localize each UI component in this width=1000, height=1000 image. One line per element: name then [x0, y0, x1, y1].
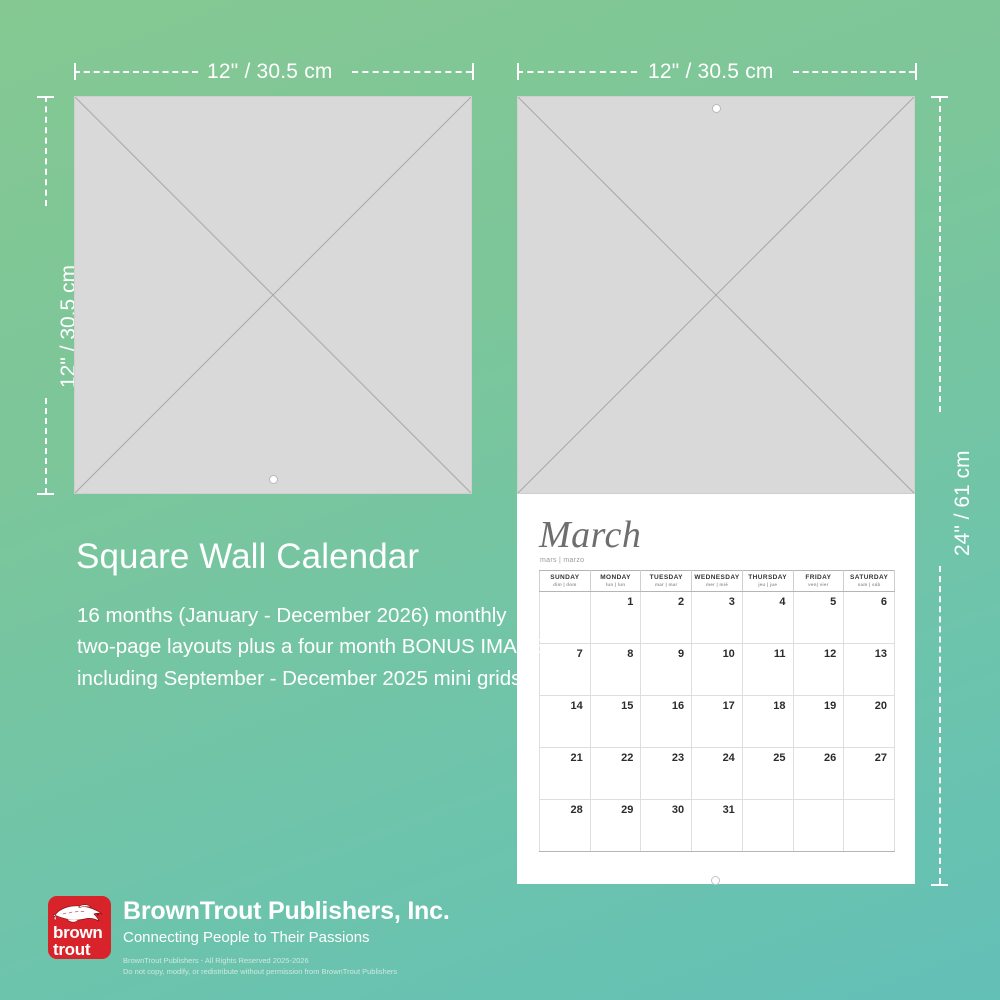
calendar-day-cell: 13 — [844, 644, 895, 696]
weekday-sub: mar | mar — [641, 582, 691, 588]
placeholder-cross-icon — [75, 97, 471, 493]
legal-notice: BrownTrout Publishers - All Rights Reser… — [123, 955, 450, 978]
calendar-header-saturday: SATURDAY sam | sáb — [844, 571, 895, 592]
dimension-tick-right — [915, 63, 917, 80]
calendar-day-cell: 3 — [692, 592, 743, 644]
legal-line-1: BrownTrout Publishers - All Rights Reser… — [123, 955, 450, 966]
logo-word-trout: trout — [53, 941, 90, 958]
dimension-dash-lower — [939, 566, 941, 884]
weekday-name: FRIDAY — [794, 574, 844, 582]
logo-word-brown: brown — [53, 924, 103, 941]
calendar-day-cell — [844, 800, 895, 852]
calendar-week-row: 7 8 9 10 11 12 13 — [540, 644, 895, 696]
calendar-week-row: 21 22 23 24 25 26 27 — [540, 748, 895, 800]
weekday-sub: jeu | jue — [743, 582, 793, 588]
calendar-day-cell: 24 — [692, 748, 743, 800]
calendar-table: SUNDAY dim | dom MONDAY lun | lun TUESDA… — [539, 570, 895, 852]
calendar-header-tuesday: TUESDAY mar | mar — [641, 571, 692, 592]
calendar-day-cell: 17 — [692, 696, 743, 748]
calendar-header-friday: FRIDAY ven| vier — [793, 571, 844, 592]
calendar-day-cell: 30 — [641, 800, 692, 852]
calendar-day-cell: 2 — [641, 592, 692, 644]
calendar-day-cell: 27 — [844, 748, 895, 800]
calendar-header-row: SUNDAY dim | dom MONDAY lun | lun TUESDA… — [540, 571, 895, 592]
weekday-sub: lun | lun — [591, 582, 641, 588]
weekday-name: SATURDAY — [844, 574, 894, 582]
calendar-day-cell: 7 — [540, 644, 591, 696]
calendar-day-cell: 1 — [590, 592, 641, 644]
weekday-sub: sam | sáb — [844, 582, 894, 588]
calendar-day-cell: 19 — [793, 696, 844, 748]
dimension-dash-left — [74, 71, 198, 73]
calendar-day-cell: 5 — [793, 592, 844, 644]
calendar-month-subtitle: mars | marzo — [540, 557, 584, 564]
calendar-day-cell: 26 — [793, 748, 844, 800]
dimension-dash-lower — [45, 398, 47, 494]
left-cover-panel — [74, 96, 472, 494]
dimension-dash-upper — [939, 96, 941, 412]
hang-hole — [712, 104, 721, 113]
dimension-tick-bottom — [37, 493, 54, 495]
placeholder-cross-icon — [518, 97, 914, 493]
right-panel-height-label: 24" / 61 cm — [951, 450, 975, 556]
dimension-tick-right — [472, 63, 474, 80]
weekday-name: WEDNESDAY — [692, 574, 742, 582]
trout-fish-icon — [53, 903, 106, 925]
calendar-day-cell: 31 — [692, 800, 743, 852]
calendar-day-cell: 16 — [641, 696, 692, 748]
calendar-day-cell: 28 — [540, 800, 591, 852]
dimension-tick-bottom — [931, 884, 948, 886]
right-panel-width-label: 12" / 30.5 cm — [648, 60, 774, 84]
calendar-header-wednesday: WEDNESDAY mer | mié — [692, 571, 743, 592]
calendar-day-cell: 10 — [692, 644, 743, 696]
calendar-week-row: 1 2 3 4 5 6 — [540, 592, 895, 644]
calendar-header-sunday: SUNDAY dim | dom — [540, 571, 591, 592]
dimension-dash-right — [352, 71, 472, 73]
calendar-day-cell: 18 — [742, 696, 793, 748]
calendar-day-cell: 4 — [742, 592, 793, 644]
calendar-day-cell: 21 — [540, 748, 591, 800]
calendar-header-thursday: THURSDAY jeu | jue — [742, 571, 793, 592]
calendar-day-cell: 12 — [793, 644, 844, 696]
browntrout-logo: brown trout — [48, 896, 111, 959]
weekday-sub: ven| vier — [794, 582, 844, 588]
weekday-sub: mer | mié — [692, 582, 742, 588]
calendar-day-cell: 11 — [742, 644, 793, 696]
calendar-day-cell — [793, 800, 844, 852]
calendar-day-cell: 23 — [641, 748, 692, 800]
calendar-day-cell: 9 — [641, 644, 692, 696]
calendar-day-cell — [742, 800, 793, 852]
calendar-day-cell: 15 — [590, 696, 641, 748]
weekday-name: TUESDAY — [641, 574, 691, 582]
calendar-header-monday: MONDAY lun | lun — [590, 571, 641, 592]
calendar-month-title: March — [539, 513, 641, 557]
hang-hole — [269, 475, 278, 484]
weekday-name: SUNDAY — [540, 574, 590, 582]
dimension-dash-right — [793, 71, 915, 73]
dimension-dash-left — [517, 71, 637, 73]
calendar-day-cell — [540, 592, 591, 644]
weekday-sub: dim | dom — [540, 582, 590, 588]
legal-line-2: Do not copy, modify, or redistribute wit… — [123, 966, 450, 977]
calendar-day-cell: 20 — [844, 696, 895, 748]
calendar-grid-page: March mars | marzo SUNDAY dim | dom MOND… — [517, 494, 915, 884]
publisher-tagline: Connecting People to Their Passions — [123, 927, 450, 948]
calendar-day-cell: 22 — [590, 748, 641, 800]
product-description: 16 months (January - December 2026) mont… — [77, 600, 547, 694]
right-cover-panel — [517, 96, 915, 494]
calendar-day-cell: 8 — [590, 644, 641, 696]
weekday-name: MONDAY — [591, 574, 641, 582]
calendar-day-cell: 6 — [844, 592, 895, 644]
page-title: Square Wall Calendar — [76, 537, 419, 577]
weekday-name: THURSDAY — [743, 574, 793, 582]
dimension-dash-upper — [45, 96, 47, 206]
calendar-day-cell: 25 — [742, 748, 793, 800]
footer-brand: brown trout BrownTrout Publishers, Inc. … — [48, 896, 450, 977]
calendar-week-row: 28 29 30 31 — [540, 800, 895, 852]
hang-hole — [711, 876, 720, 885]
calendar-day-cell: 29 — [590, 800, 641, 852]
calendar-week-row: 14 15 16 17 18 19 20 — [540, 696, 895, 748]
calendar-day-cell: 14 — [540, 696, 591, 748]
left-panel-width-label: 12" / 30.5 cm — [207, 60, 333, 84]
publisher-name: BrownTrout Publishers, Inc. — [123, 898, 450, 926]
